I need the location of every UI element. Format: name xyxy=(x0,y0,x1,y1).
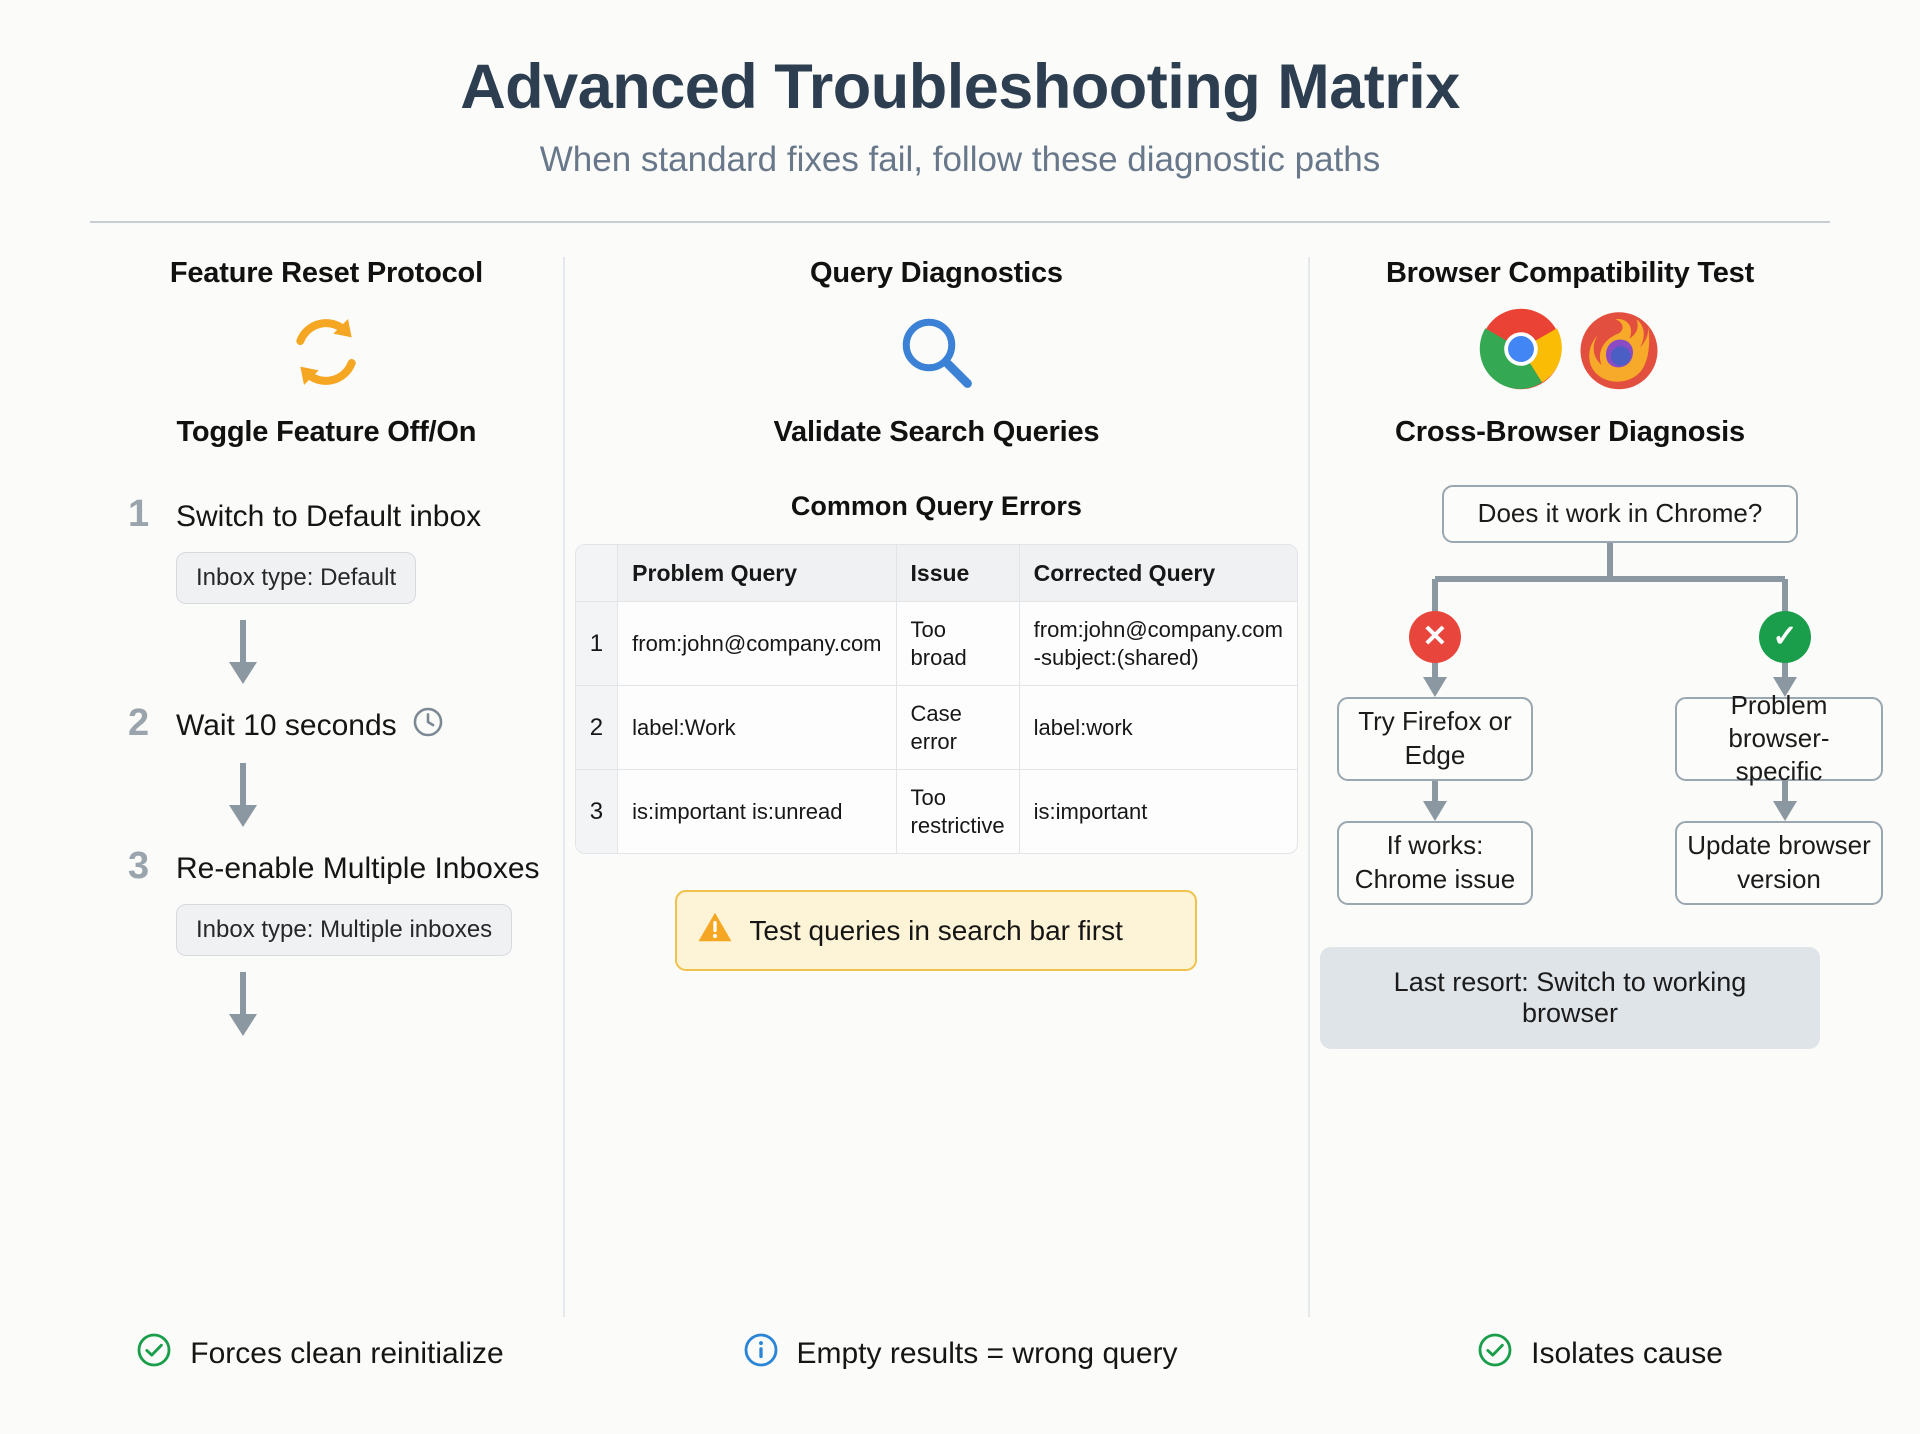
check-circle-icon xyxy=(1477,1332,1513,1376)
table-row: 2 label:Work Case error label:work xyxy=(576,686,1297,770)
header-divider xyxy=(90,221,1830,223)
warning-text: Test queries in search bar first xyxy=(749,915,1123,947)
list-item: 1 Switch to Default inbox xyxy=(128,495,553,534)
refresh-icon xyxy=(100,304,553,400)
column-title: Feature Reset Protocol xyxy=(100,257,553,290)
bottom-note-text: Isolates cause xyxy=(1531,1337,1723,1371)
cell-corrected-query: label:work xyxy=(1020,686,1297,770)
no-badge: ✕ xyxy=(1409,611,1461,663)
column-title: Browser Compatibility Test xyxy=(1320,257,1820,290)
column-subtitle: Cross-Browser Diagnosis xyxy=(1320,416,1820,449)
step-number: 2 xyxy=(128,704,154,742)
column-subtitle: Validate Search Queries xyxy=(575,416,1298,449)
column-browser-compat: Browser Compatibility Test xyxy=(1308,257,1830,1317)
page-header: Advanced Troubleshooting Matrix When sta… xyxy=(90,0,1830,223)
tree-node-label: Problem browser-specific xyxy=(1687,689,1871,789)
cell-problem-query: label:Work xyxy=(618,686,896,770)
cell-problem-query: is:important is:unread xyxy=(618,770,896,853)
warning-banner: Test queries in search bar first xyxy=(675,890,1197,971)
tree-node-problem-browser-specific: Problem browser-specific xyxy=(1675,697,1883,781)
tree-node-root: Does it work in Chrome? xyxy=(1442,485,1798,543)
list-item: 3 Re-enable Multiple Inboxes xyxy=(128,847,553,886)
close-icon: ✕ xyxy=(1422,619,1447,654)
column-feature-reset: Feature Reset Protocol Toggle Feature Of… xyxy=(90,257,563,1317)
troubleshooting-matrix-page: Advanced Troubleshooting Matrix When sta… xyxy=(0,0,1920,1434)
column-header-issue: Issue xyxy=(897,545,1020,603)
table-row: 1 from:john@company.com Too broad from:j… xyxy=(576,602,1297,686)
list-item: 2 Wait 10 seconds xyxy=(128,704,553,747)
check-icon: ✓ xyxy=(1772,619,1797,654)
cell-corrected-query: is:important xyxy=(1020,770,1297,853)
tree-node-root-label: Does it work in Chrome? xyxy=(1478,497,1763,530)
column-subtitle: Toggle Feature Off/On xyxy=(100,416,553,449)
step-label: Re-enable Multiple Inboxes xyxy=(176,852,540,886)
table-row: 3 is:important is:unread Too restrictive… xyxy=(576,770,1297,853)
table-header-row: Problem Query Issue Corrected Query xyxy=(576,545,1297,603)
cell-index: 2 xyxy=(576,686,618,770)
column-header-corrected-query: Corrected Query xyxy=(1020,545,1297,603)
browser-logos-icon xyxy=(1320,304,1820,400)
check-circle-icon xyxy=(136,1332,172,1376)
bottom-note-middle: Empty results = wrong query xyxy=(640,1332,1280,1376)
page-subtitle: When standard fixes fail, follow these d… xyxy=(90,139,1830,181)
tree-node-try-firefox-edge: Try Firefox or Edge xyxy=(1337,697,1533,781)
reset-steps-list: 1 Switch to Default inbox Inbox type: De… xyxy=(100,495,553,1042)
columns-container: Feature Reset Protocol Toggle Feature Of… xyxy=(90,257,1830,1317)
warning-triangle-icon xyxy=(697,910,733,951)
browser-decision-tree: Does it work in Chrome? ✕ ✓ Try Firefox … xyxy=(1320,483,1820,913)
tree-node-label: Try Firefox or Edge xyxy=(1349,705,1521,772)
tree-node-label: Update browser version xyxy=(1687,829,1871,896)
query-errors-table: Problem Query Issue Corrected Query 1 fr… xyxy=(575,544,1298,855)
column-query-diagnostics: Query Diagnostics Validate Search Querie… xyxy=(563,257,1308,1317)
flow-arrow-icon xyxy=(128,761,358,833)
yes-badge: ✓ xyxy=(1759,611,1811,663)
clock-icon xyxy=(411,705,445,747)
cell-issue: Case error xyxy=(897,686,1020,770)
info-circle-icon xyxy=(743,1332,779,1376)
column-header-problem-query: Problem Query xyxy=(618,545,896,603)
tree-node-if-works-chrome-issue: If works: Chrome issue xyxy=(1337,821,1533,905)
bottom-note-right: Isolates cause xyxy=(1280,1332,1920,1376)
cell-index: 1 xyxy=(576,602,618,686)
step-number: 1 xyxy=(128,495,154,533)
bottom-note-left: Forces clean reinitialize xyxy=(0,1332,640,1376)
cell-problem-query: from:john@company.com xyxy=(618,602,896,686)
step-label: Wait 10 seconds xyxy=(176,709,397,743)
step-number: 3 xyxy=(128,847,154,885)
step-label: Switch to Default inbox xyxy=(176,500,481,534)
cell-corrected-query: from:john@company.com -subject:(shared) xyxy=(1020,602,1297,686)
last-resort-banner: Last resort: Switch to working browser xyxy=(1320,947,1820,1049)
flow-arrow-icon xyxy=(128,970,358,1042)
bottom-note-text: Forces clean reinitialize xyxy=(190,1337,503,1371)
page-title: Advanced Troubleshooting Matrix xyxy=(90,52,1830,123)
table-heading: Common Query Errors xyxy=(575,491,1298,522)
column-title: Query Diagnostics xyxy=(575,257,1298,290)
cell-issue: Too restrictive xyxy=(897,770,1020,853)
firefox-logo-icon xyxy=(1577,307,1661,396)
chrome-logo-icon xyxy=(1479,307,1563,396)
bottom-note-text: Empty results = wrong query xyxy=(797,1337,1178,1371)
search-icon xyxy=(575,304,1298,400)
column-header-index xyxy=(576,545,618,603)
inbox-type-chip: Inbox type: Default xyxy=(176,552,416,604)
tree-node-update-browser-version: Update browser version xyxy=(1675,821,1883,905)
flow-arrow-icon xyxy=(128,618,358,690)
tree-node-label: If works: Chrome issue xyxy=(1349,829,1521,896)
bottom-notes-row: Forces clean reinitialize Empty results … xyxy=(0,1332,1920,1376)
inbox-type-chip: Inbox type: Multiple inboxes xyxy=(176,904,512,956)
cell-issue: Too broad xyxy=(897,602,1020,686)
cell-index: 3 xyxy=(576,770,618,853)
